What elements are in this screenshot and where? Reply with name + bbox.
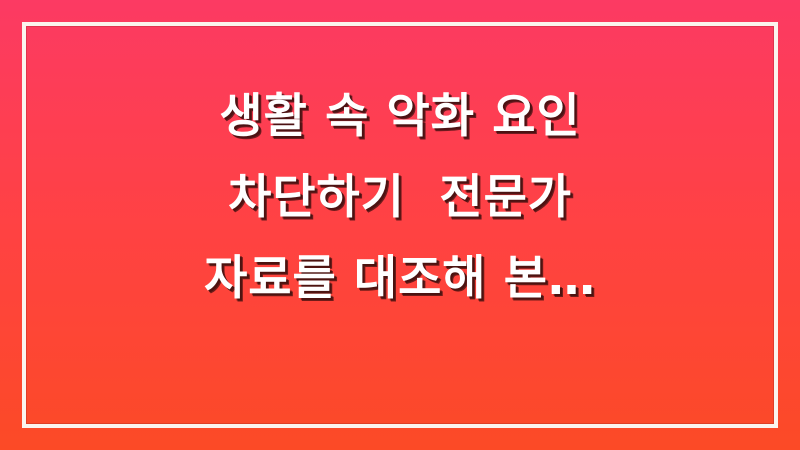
caption-line-2: 차단하기 전문가 [228, 157, 572, 238]
caption-block: 생활 속 악화 요인 차단하기 전문가 자료를 대조해 본… [0, 0, 800, 450]
caption-line-3: 자료를 대조해 본… [204, 238, 596, 319]
caption-line-1: 생활 속 악화 요인 [219, 76, 580, 157]
title-card: 생활 속 악화 요인 차단하기 전문가 자료를 대조해 본… [0, 0, 800, 450]
